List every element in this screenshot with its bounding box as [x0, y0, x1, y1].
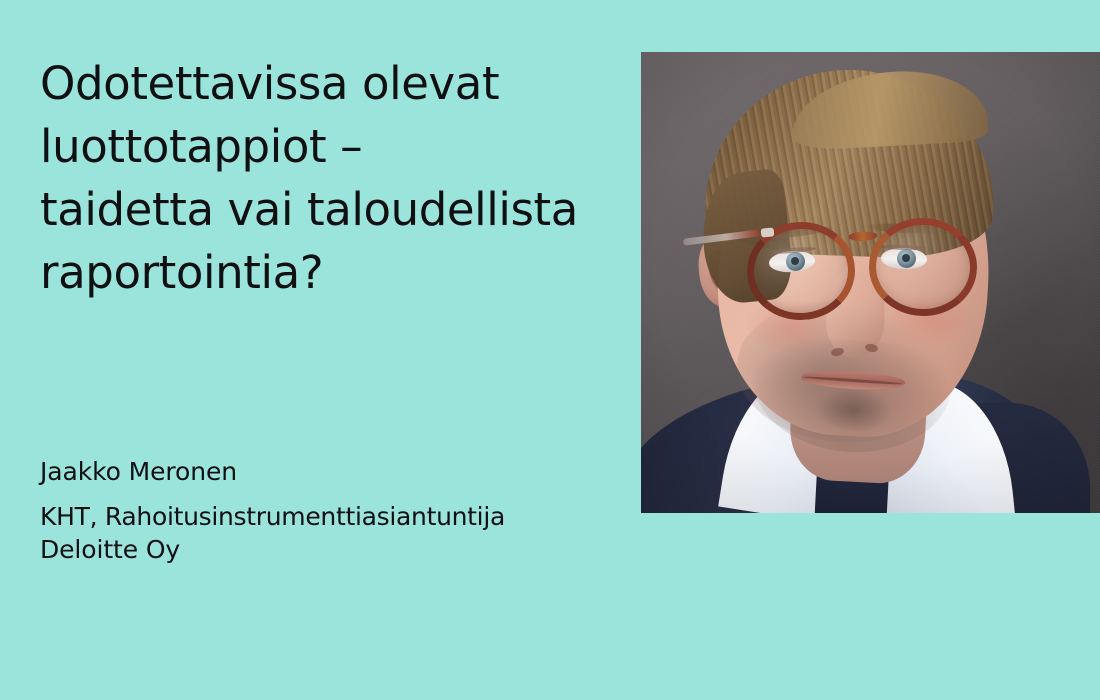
title-line-3: taidetta vai taloudellista: [40, 178, 640, 241]
title-line-2: luottotappiot –: [40, 115, 640, 178]
portrait-person: [641, 52, 1100, 513]
presentation-slide: Odotettavissa olevat luottotappiot – tai…: [0, 0, 1100, 700]
eyeglasses-hinge: [761, 227, 775, 237]
speaker-organization: Deloitte Oy: [40, 533, 620, 566]
title-line-1: Odotettavissa olevat: [40, 52, 640, 115]
title-line-4: raportointia?: [40, 241, 640, 304]
slide-title: Odotettavissa olevat luottotappiot – tai…: [40, 52, 640, 304]
speaker-byline: Jaakko Meronen KHT, Rahoitusinstrumentti…: [40, 455, 620, 566]
speaker-role: KHT, Rahoitusinstrumenttiasiantuntija: [40, 500, 620, 533]
speaker-name: Jaakko Meronen: [40, 455, 620, 488]
speaker-portrait-photo: [641, 52, 1100, 513]
